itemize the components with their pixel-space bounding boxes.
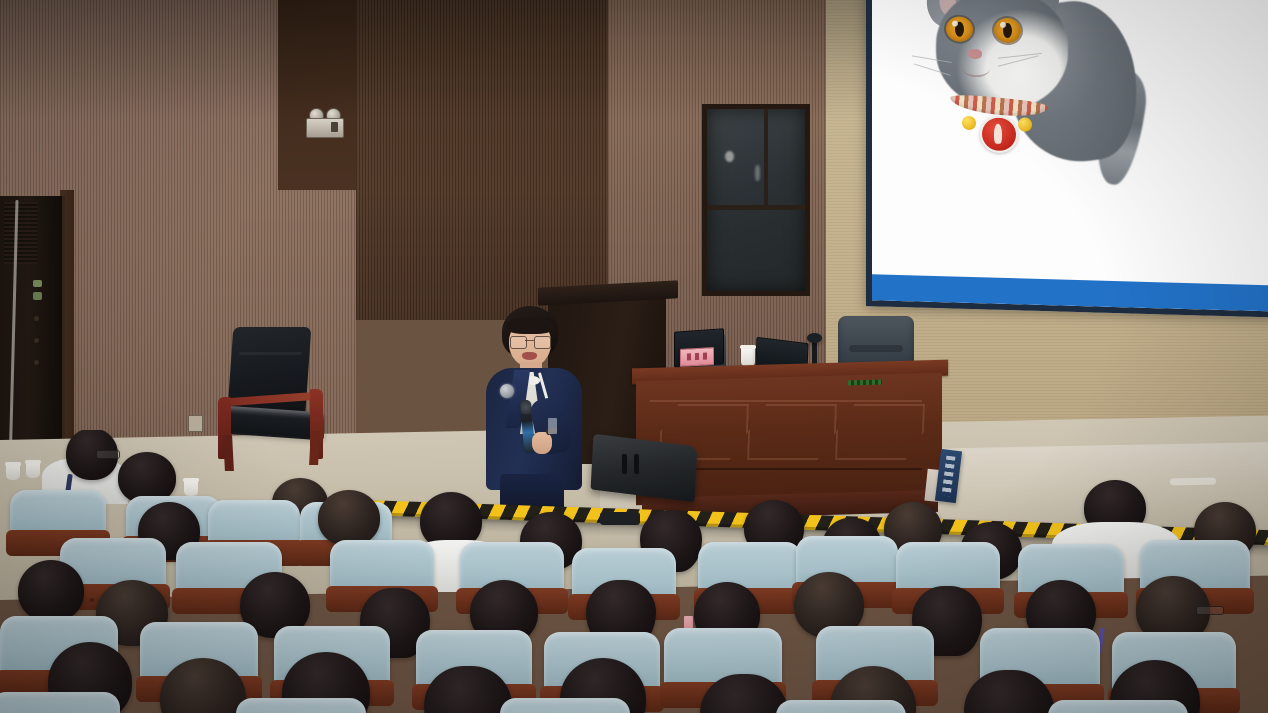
auditorium-seat[interactable] — [236, 698, 366, 713]
paper-cup — [741, 345, 755, 366]
cat-eye-right — [994, 18, 1021, 44]
cat-eye-left — [946, 16, 973, 42]
presenter-fringe — [506, 317, 554, 334]
presenter-mouth — [522, 352, 537, 360]
cat-photo — [902, 0, 1152, 188]
cat-bell — [962, 116, 976, 130]
back-wall-wood-dark — [356, 0, 608, 320]
seated-audience — [0, 430, 1268, 713]
auditorium-seat[interactable] — [1048, 700, 1188, 713]
window-mullion — [764, 109, 768, 205]
projection-screen — [866, 0, 1268, 318]
eyeglasses-icon — [96, 450, 120, 459]
cat-pendant — [980, 115, 1018, 153]
speaker-knob-icon — [34, 316, 39, 321]
paper-cup — [184, 478, 198, 496]
window-mullion — [707, 205, 805, 210]
auditorium-seat[interactable] — [500, 698, 630, 713]
nameplate-text-glyphs — [687, 352, 707, 360]
speaker-knob-icon — [34, 360, 39, 365]
microphone-head-icon — [807, 333, 822, 343]
cat-bell — [1018, 117, 1032, 131]
speaker-grille-icon — [4, 202, 38, 264]
eyeglasses-icon — [509, 336, 551, 347]
eyeglasses-icon — [1196, 606, 1224, 615]
slide-canvas — [872, 0, 1268, 312]
speaker-indicator-led — [33, 280, 42, 287]
window-glare — [725, 151, 734, 162]
paper-cup — [26, 460, 40, 478]
paper-cup — [6, 462, 20, 480]
emergency-light-icon — [306, 108, 342, 136]
attendee-head — [18, 560, 84, 622]
speaker-knob-icon — [34, 338, 39, 343]
table-led-strip — [848, 380, 882, 386]
emergency-light-panel — [331, 122, 338, 132]
speaker-indicator-led — [33, 292, 42, 300]
auditorium-seat[interactable] — [10, 490, 106, 544]
window-glare — [755, 165, 760, 181]
back-window — [702, 104, 810, 296]
auditorium-seat[interactable] — [776, 700, 906, 713]
attendee-head — [318, 490, 380, 546]
cat-nose — [968, 49, 982, 59]
back-wall-wood-dark-upper — [278, 0, 358, 190]
auditorium-scene — [0, 0, 1268, 713]
lapel-brooch-icon — [500, 384, 514, 398]
auditorium-seat[interactable] — [0, 692, 120, 713]
cat-mouth — [962, 59, 990, 78]
emergency-light-base — [306, 118, 344, 138]
